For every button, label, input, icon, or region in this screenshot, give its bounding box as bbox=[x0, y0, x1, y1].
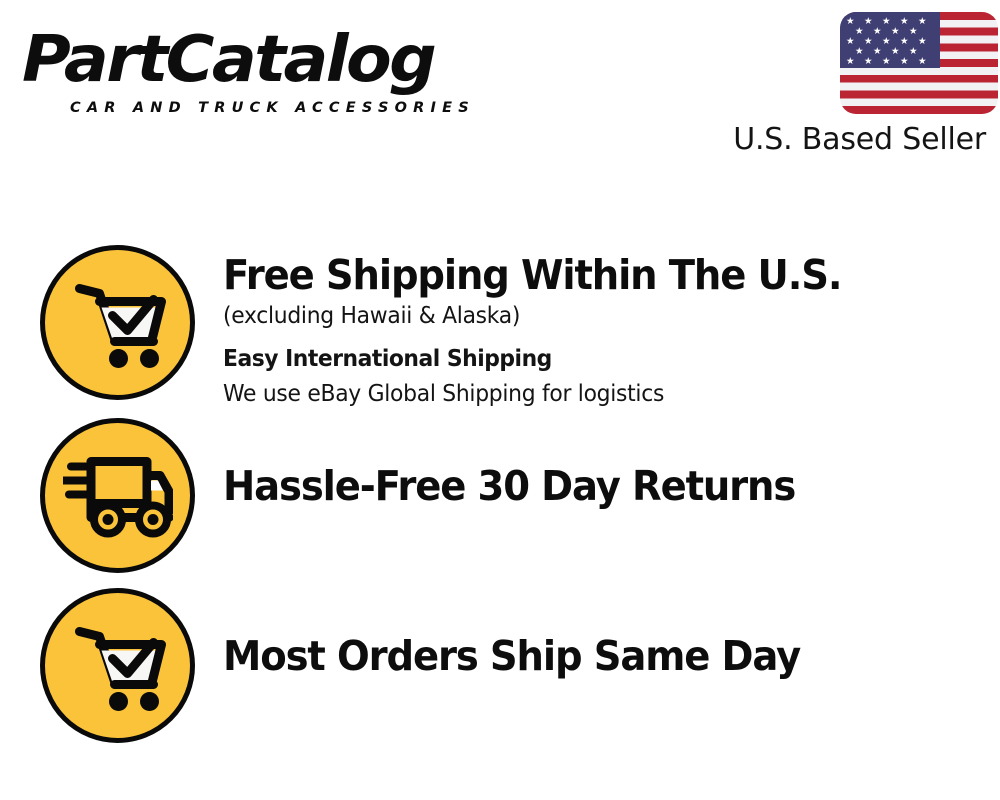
feature-row-returns: Hassle-Free 30 Day Returns bbox=[40, 418, 832, 573]
feature-text-block: Free Shipping Within The U.S. (excluding… bbox=[223, 245, 881, 411]
brand-logo[interactable]: PartCatalog CAR AND TRUCK ACCESSORIES bbox=[22, 24, 492, 116]
delivery-truck-icon bbox=[40, 418, 195, 573]
us-based-seller-badge: ★ ★ ★ ★ ★ ★ ★ ★ ★ ★ ★ ★ ★ ★ ★ ★ ★ ★ ★ ★ … bbox=[700, 10, 1000, 160]
feature-text-block: Hassle-Free 30 Day Returns bbox=[223, 418, 832, 510]
feature-row-same-day-ship: Most Orders Ship Same Day bbox=[40, 588, 837, 743]
feature-headline: Most Orders Ship Same Day bbox=[223, 632, 800, 680]
feature-headline: Free Shipping Within The U.S. bbox=[223, 251, 841, 299]
seller-badge-label: U.S. Based Seller bbox=[733, 122, 986, 158]
shopping-cart-check-icon bbox=[40, 588, 195, 743]
feature-subline-2: Easy International Shipping bbox=[223, 342, 848, 376]
feature-row-free-shipping: Free Shipping Within The U.S. (excluding… bbox=[40, 245, 881, 411]
feature-headline: Hassle-Free 30 Day Returns bbox=[223, 462, 795, 510]
shopping-cart-check-icon bbox=[40, 245, 195, 400]
feature-subline-3: We use eBay Global Shipping for logistic… bbox=[223, 377, 848, 411]
brand-tagline: CAR AND TRUCK ACCESSORIES bbox=[70, 100, 475, 116]
feature-subline-1: (excluding Hawaii & Alaska) bbox=[223, 299, 848, 333]
flag-stars: ★ ★ ★ ★ ★ ★ ★ ★ ★ ★ ★ ★ ★ ★ ★ ★ ★ ★ ★ ★ … bbox=[840, 12, 998, 114]
feature-text-block: Most Orders Ship Same Day bbox=[223, 588, 837, 680]
us-flag-icon: ★ ★ ★ ★ ★ ★ ★ ★ ★ ★ ★ ★ ★ ★ ★ ★ ★ ★ ★ ★ … bbox=[840, 12, 998, 114]
brand-wordmark: PartCatalog bbox=[22, 24, 434, 96]
